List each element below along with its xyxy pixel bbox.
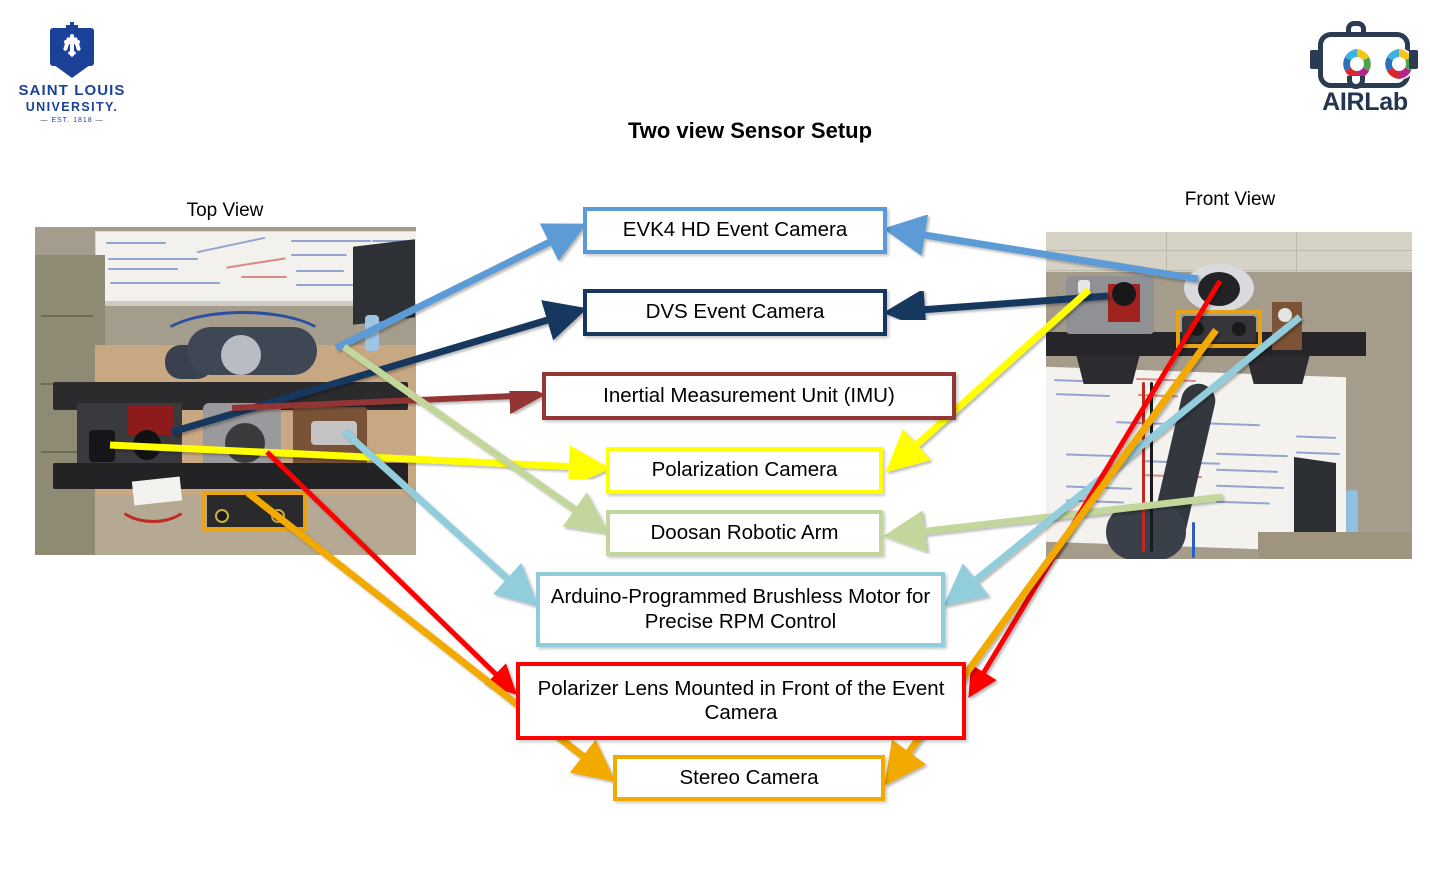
callout-stereo-camera[interactable]: Stereo Camera [613,755,885,801]
front-view-label: Front View [1135,189,1325,211]
monitor [353,239,415,325]
goggles-strap-right [1409,50,1418,69]
university-name-line1: SAINT LOUIS [12,82,132,99]
stereo-camera-highlight-box [202,491,307,531]
red-wire-coil [115,477,191,523]
top-view-label: Top View [130,200,320,222]
gantry-bracket-left [1076,354,1140,384]
gantry-bracket-right [1246,354,1310,384]
callout-polarization-camera[interactable]: Polarization Camera [606,447,883,494]
optical-rail-lower [53,463,408,489]
fleur-right-petal [73,37,81,52]
callout-label: Polarizer Lens Mounted in Front of the E… [520,677,962,725]
callout-label: Arduino-Programmed Brushless Motor for P… [540,585,941,633]
callout-inertial-measurement-unit[interactable]: Inertial Measurement Unit (IMU) [542,372,956,420]
water-bottle [365,315,379,351]
shield-point [50,62,94,78]
airlab-logo: AIRLab [1310,32,1420,122]
dvs-camera-lens-front [1112,282,1136,306]
callout-doosan-robotic-arm[interactable]: Doosan Robotic Arm [606,510,883,556]
polarization-camera-aperture-front [1198,272,1240,306]
imu-module-front [1078,280,1090,294]
doosan-arm-base-front [1106,504,1186,559]
saint-louis-university-logo: SAINT LOUIS UNIVERSITY. — EST. 1818 — [12,22,132,132]
stereo-camera-highlight-box-front [1176,310,1262,348]
clamp-knob-front [1278,308,1292,322]
black-power-wire [1150,382,1153,552]
event-camera-lens [89,430,115,462]
callout-dvs-event-camera[interactable]: DVS Event Camera [583,289,887,336]
water-bottle-front [1346,490,1358,536]
callout-label: Polarization Camera [652,458,838,482]
blue-wire [1192,522,1195,558]
callout-polarizer-lens[interactable]: Polarizer Lens Mounted in Front of the E… [516,662,966,740]
shield-fleur-de-lis-icon [50,22,94,78]
callout-label: EVK4 HD Event Camera [623,218,847,242]
callout-label: Inertial Measurement Unit (IMU) [603,384,895,408]
airlab-wordmark: AIRLab [1310,88,1420,117]
doosan-arm-joint [221,335,261,375]
front-view-photo [1046,232,1412,559]
polarizer-lens [133,430,161,460]
polarization-camera-aperture [225,423,265,463]
top-view-photo [35,227,416,555]
brushless-motor [311,421,357,445]
university-established: — EST. 1818 — [12,117,132,124]
slide-canvas: SAINT LOUIS UNIVERSITY. — EST. 1818 — [0,0,1430,895]
callout-label: Doosan Robotic Arm [650,521,838,545]
university-name-line2: UNIVERSITY. [12,100,132,114]
callout-label: DVS Event Camera [646,300,825,324]
monitor-front [1294,457,1336,543]
page-title: Two view Sensor Setup [415,118,1085,144]
callout-evk4-hd-event-camera[interactable]: EVK4 HD Event Camera [583,207,887,254]
callout-label: Stereo Camera [679,766,818,790]
desk-front [1258,532,1412,559]
red-power-wire [1142,382,1145,552]
goggles-strap-left [1310,50,1319,69]
callout-arduino-brushless-motor[interactable]: Arduino-Programmed Brushless Motor for P… [536,572,945,647]
